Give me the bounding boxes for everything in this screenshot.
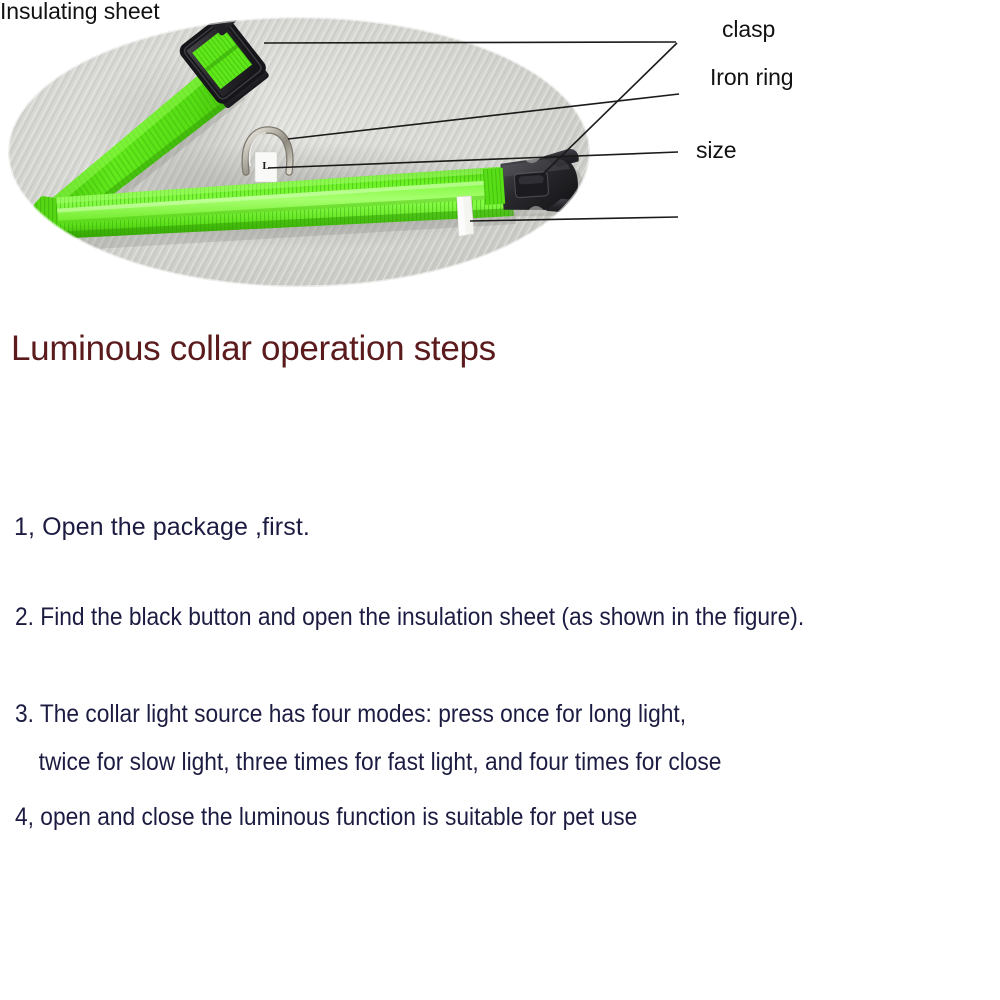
callout-label-insulating-sheet: Insulating sheet [0, 0, 160, 23]
infographic-page: L [0, 0, 1000, 1000]
leader-line-clasp [264, 42, 676, 43]
size-tag-letter: L [262, 160, 269, 172]
step-item-3-line-a: 3. The collar light source has four mode… [15, 690, 721, 738]
step-item-3-line-b: twice for slow light, three times for fa… [15, 738, 721, 786]
step-item-4: 4, open and close the luminous function … [15, 802, 637, 832]
product-photo-region: L [0, 0, 1000, 300]
step-item-3: 3. The collar light source has four mode… [15, 690, 721, 786]
step-item-1: 1, Open the package ,first. [14, 512, 310, 542]
callout-label-iron-ring: Iron ring [710, 66, 793, 89]
product-photo-diagram: L [0, 0, 1000, 300]
insulating-sheet-tab [457, 196, 474, 236]
page-title: Luminous collar operation steps [11, 328, 496, 370]
step-item-2: 2. Find the black button and open the in… [15, 602, 804, 632]
callout-label-clasp: clasp [722, 18, 775, 41]
callout-label-size: size [696, 139, 737, 162]
